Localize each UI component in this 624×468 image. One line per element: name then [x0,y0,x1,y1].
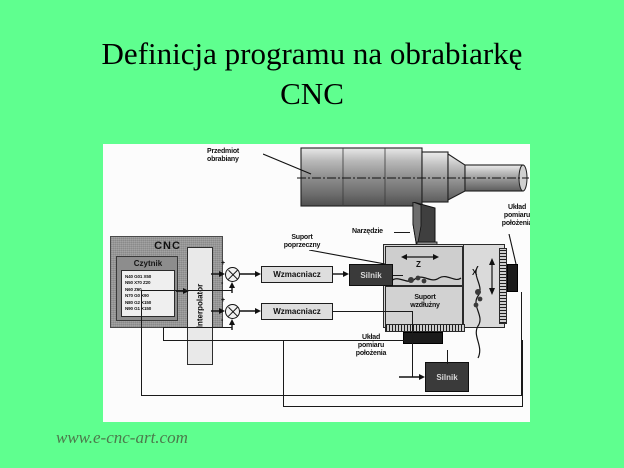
tape-reader-label: Czytnik [117,259,179,268]
label-pos-right-line-2: pomiaru [504,212,530,219]
amplifier-2-label: Wzmacniacz [273,307,321,316]
interpolator-block: Interpolator [187,247,213,365]
summing-junction-1-minus: - [221,280,223,287]
page-title-line-1: Definicja programu na obrabiarkę [102,36,523,71]
link-motor-1-to-leadscrew [393,275,403,276]
label-workpiece: Przedmiot obrabiany [207,148,269,164]
footer-url[interactable]: www.e-cnc-art.com [56,428,188,448]
label-cross-slide-line-2: poprzeczny [284,242,321,249]
feedback-x-branch [141,290,232,291]
leader-position-measure-right [507,234,521,266]
label-tool-text: Narzędzie [352,228,383,235]
summing-junction-2-plus: + [221,297,225,304]
tape-reader-block: Czytnik N40 G01 X50 N50 X70 Z20 N60 Z60 … [116,256,178,321]
outer-loop-right [522,340,523,407]
leader-position-measure-bottom [392,340,404,341]
arrow-to-motor-2 [399,372,427,383]
program-tape: N40 G01 X50 N50 X70 Z20 N60 Z60 N70 G0 X… [121,270,175,317]
position-scale-horizontal [385,324,465,332]
arrow-sum-1-to-amplifier-1 [240,269,263,280]
feedback-z-left [163,340,393,341]
leadscrew-x-graphic [469,266,487,366]
feedback-x-left [141,395,522,396]
outer-loop-left [283,340,284,407]
label-pos-bottom-line-2: pomiaru [358,342,384,349]
arrow-sum-2-to-amplifier-2 [240,306,263,317]
label-long-slide-line-2: wzdłużny [410,302,440,309]
arrow-interpolator-to-sum-1 [211,269,227,280]
label-pos-right-line-3: położenia [502,220,530,227]
motor-block-2: Silnik [425,362,469,392]
axis-z-text: Z [416,260,421,269]
summing-junction-2-minus: - [221,317,223,324]
arrow-amplifier-1-to-motor-1 [333,269,351,280]
label-workpiece-line-2: obrabiany [207,156,239,163]
position-sensor-vertical [507,264,518,292]
label-long-slide-line-1: Suport [414,294,435,301]
feedback-z-up [163,327,164,341]
program-line: N90 G1 X150 [125,306,172,312]
label-position-measure-bottom: Układ pomiaru położenia [347,334,395,358]
cnc-controller-block: CNC Czytnik N40 G01 X50 N50 X70 Z20 N60 … [110,236,223,328]
link-amplifier-2-right [333,311,413,312]
label-pos-right-line-1: Układ [508,204,526,211]
summing-junction-1 [225,267,240,282]
position-sensor-horizontal [403,332,443,344]
label-workpiece-line-1: Przedmiot [207,148,239,155]
tool-graphic [401,202,447,250]
page-title-line-2: CNC [0,74,624,114]
motor-2-label: Silnik [436,373,457,382]
link-motor-2-to-leadscrew [447,350,448,364]
page-title: Definicja programu na obrabiarkę CNC [0,34,624,114]
amplifier-block-2: Wzmacniacz [261,303,333,320]
summing-junction-2 [225,304,240,319]
arrow-feedback-x-to-sum-1 [227,282,238,294]
axis-z-indicator [401,252,441,270]
arrow-interpolator-to-sum-2 [211,306,227,317]
amplifier-1-label: Wzmacniacz [273,270,321,279]
label-tool: Narzędzie [352,228,400,236]
axis-z-label: Z [416,260,421,269]
summing-junction-1-plus: + [221,260,225,267]
leader-workpiece [263,152,315,178]
leader-tool [394,232,410,233]
label-cross-slide: Suport poprzeczny [271,234,333,250]
label-cross-slide-line-1: Suport [291,234,312,241]
arrow-feedback-z-to-sum-2 [227,319,238,331]
feedback-z-branch [163,327,232,328]
cnc-diagram-image: Przedmiot obrabiany Narzędzie Suport pop… [103,144,530,422]
slide-root: Definicja programu na obrabiarkę CNC [0,0,624,468]
motor-1-label: Silnik [360,271,381,280]
outer-loop-bottom [283,406,523,407]
label-long-slide: Suport wzdłużny [395,294,455,310]
label-pos-bottom-line-3: położenia [356,350,386,357]
workpiece-graphic [297,146,529,210]
motor-block-1: Silnik [349,264,393,286]
label-position-measure-right: Układ pomiaru położenia [494,204,530,228]
link-amplifier-2-down [412,311,413,377]
feedback-x-up [141,290,142,396]
amplifier-block-1: Wzmacniacz [261,266,333,283]
position-scale-vertical [499,248,507,324]
